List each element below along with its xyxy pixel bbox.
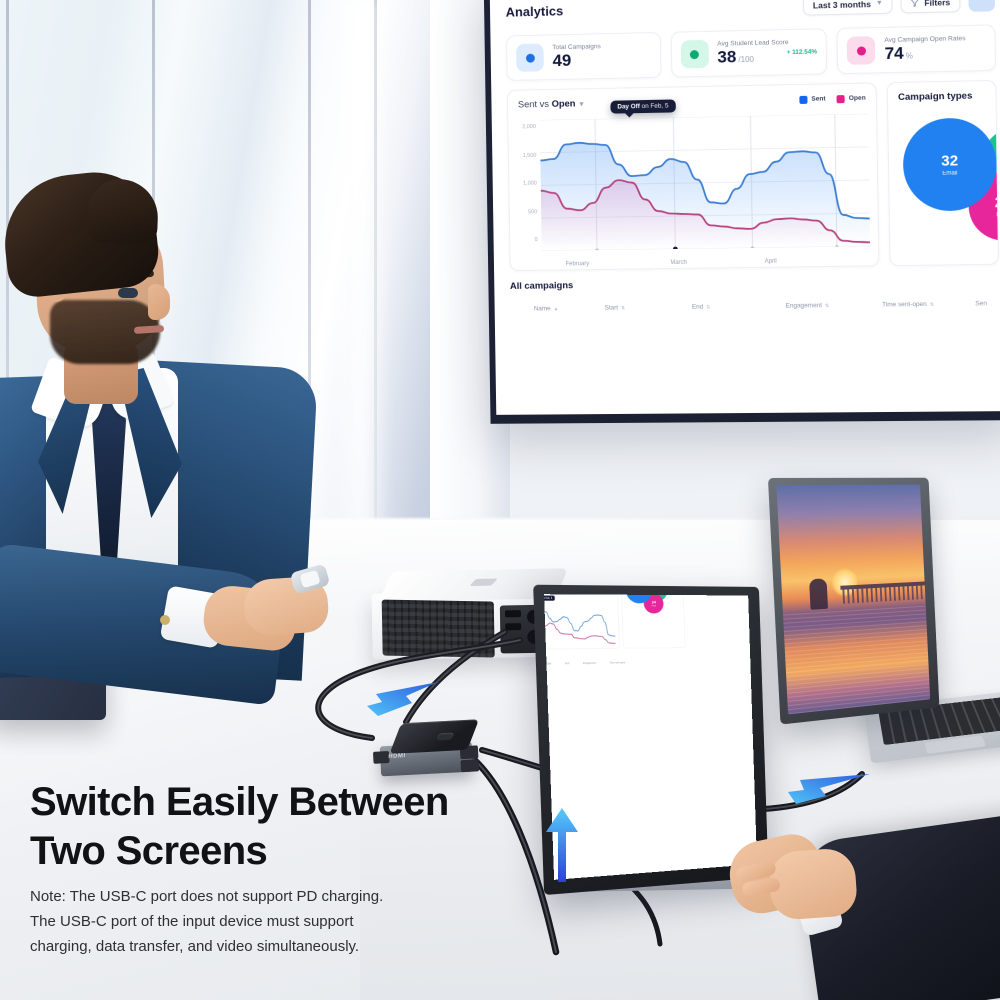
kpi-card-lead-score: Avg Student Lead Score 38 /100 + 112.54%	[670, 28, 827, 77]
chart-legend: Sent Open	[799, 94, 866, 103]
mirrored-dashboard: Avg Student Lead Score38/100 Avg Campaig…	[544, 594, 693, 749]
all-campaigns-section: All campaigns Name▲ Start⇅ End⇅ Engageme…	[510, 275, 1000, 313]
projector-vent-grill	[382, 600, 495, 658]
analytics-dashboard: Analytics Last 3 months ▼ Filters	[490, 0, 1000, 415]
legend-item-sent: Sent	[799, 95, 826, 104]
tooltip-rest: on Feb, 5	[640, 103, 669, 111]
note-line-1: Note: The USB-C port does not support PD…	[30, 884, 500, 909]
table-header-row: Name▲ Start⇅ End⇅ Engagement⇅ Time sent-…	[510, 300, 1000, 313]
cufflink	[160, 615, 170, 625]
kpi-suffix: %	[906, 52, 913, 61]
header-controls: Last 3 months ▼ Filters	[803, 0, 995, 16]
chart-tooltip: Day Off on Feb, 5	[610, 99, 675, 113]
legend-swatch	[837, 95, 845, 103]
kpi-label: Total Campaigns	[552, 43, 600, 51]
date-range-select[interactable]: Last 3 months ▼	[803, 0, 893, 15]
person-typing-on-laptop	[690, 806, 1000, 1000]
filters-label: Filters	[924, 0, 950, 7]
headline-line-2: Two Screens	[30, 827, 570, 876]
kpi-value: 38	[717, 48, 736, 67]
column-header-start[interactable]: Start⇅	[605, 304, 692, 312]
kpi-card-row: Total Campaigns 49 Avg Student Lead Scor…	[506, 24, 996, 81]
bubble-label: Email	[942, 170, 957, 176]
headline-line-1: Switch Easily Between	[30, 778, 570, 827]
column-header-engagement[interactable]: Engagement⇅	[786, 301, 883, 309]
sent-vs-open-panel: Sent vs Open ▼ Sent Open	[507, 82, 880, 271]
seated-businessman	[0, 160, 352, 660]
chevron-down-icon: ▼	[876, 0, 883, 7]
laptop-display	[776, 485, 930, 715]
usb-port	[505, 623, 521, 630]
sort-icon: ⇅	[621, 305, 625, 311]
y-tick: 1,000	[511, 181, 537, 187]
open-rate-icon	[847, 36, 876, 65]
sort-icon: ⇅	[825, 303, 829, 309]
kpi-value: 49	[552, 52, 571, 71]
hub-output-port-2	[461, 759, 480, 772]
product-marketing-image: Analytics Last 3 months ▼ Filters	[0, 0, 1000, 1000]
pier-pillars	[842, 585, 925, 603]
note-line-3: charging, data transfer, and video simul…	[30, 934, 500, 959]
hub-brand-label: HDMI	[388, 753, 406, 760]
laptop-with-sunset-wallpaper	[772, 478, 1000, 778]
y-axis-labels: 2,000 1,500 1,000 500 0	[510, 124, 537, 243]
hand-right	[768, 847, 859, 921]
nose	[148, 284, 170, 320]
arrow-to-laptop	[782, 762, 882, 814]
legend-item-open: Open	[837, 94, 866, 103]
line-chart-title-prefix: Sent vs	[518, 99, 552, 111]
column-header-end[interactable]: End⇅	[692, 303, 786, 311]
primary-action-button[interactable]	[968, 0, 995, 12]
pie-chart-title: Campaign types	[898, 90, 985, 103]
x-tick: March	[670, 260, 687, 266]
bubble-value: 24	[995, 194, 1000, 209]
sort-icon: ⇅	[706, 304, 710, 310]
x-axis-labels: February March April	[544, 257, 874, 267]
filters-button[interactable]: Filters	[901, 0, 961, 13]
y-tick: 500	[512, 209, 538, 215]
x-tick: April	[765, 259, 777, 265]
hdmi-switch-hub[interactable]: HDMI	[371, 719, 484, 783]
page-headline: Switch Easily Between Two Screens	[30, 778, 570, 876]
legend-label: Open	[849, 95, 866, 102]
sort-icon: ⇅	[930, 301, 934, 307]
kpi-delta: + 112.54%	[787, 48, 818, 56]
hub-input-port	[373, 751, 390, 764]
lead-score-icon	[680, 40, 708, 69]
silhouette-figure	[809, 578, 828, 609]
eye	[118, 288, 138, 298]
kpi-value: 74	[884, 44, 903, 63]
chart-panel-row: Sent vs Open ▼ Sent Open	[507, 80, 999, 271]
kpi-card-total-campaigns: Total Campaigns 49	[506, 32, 661, 81]
kpi-suffix: /100	[738, 56, 754, 65]
note-line-2: The USB-C port of the input device must …	[30, 909, 500, 934]
sleeve-buttons	[102, 626, 162, 636]
line-chart-title-bold: Open	[552, 98, 576, 109]
bubble-label: Form	[996, 212, 999, 218]
line-chart-plot	[540, 114, 870, 251]
tooltip-bold: Day Off	[617, 103, 640, 110]
column-header-name[interactable]: Name▲	[510, 305, 604, 313]
wall-presentation-screen: Analytics Last 3 months ▼ Filters	[484, 0, 1000, 424]
water-reflection	[783, 603, 930, 715]
y-tick: 0	[512, 237, 538, 243]
hair	[0, 166, 162, 299]
sort-asc-icon: ▲	[554, 306, 559, 312]
legend-label: Sent	[811, 95, 825, 102]
funnel-icon	[911, 0, 919, 7]
dashboard-header: Analytics Last 3 months ▼ Filters	[506, 0, 996, 23]
kpi-card-open-rates: Avg Campaign Open Rates 74 %	[837, 24, 996, 74]
legend-swatch	[799, 95, 807, 103]
kpi-label: Avg Student Lead Score	[717, 39, 777, 47]
hdmi-port	[505, 610, 521, 617]
table-title: All campaigns	[510, 275, 1000, 292]
column-header-time-sent-open[interactable]: Time sent-open⇅	[882, 300, 975, 308]
date-range-label: Last 3 months	[813, 0, 871, 10]
line-chart-header: Sent vs Open ▼ Sent Open	[518, 93, 866, 111]
y-tick: 2,000	[510, 124, 536, 130]
x-tick: February	[566, 261, 590, 267]
mirrored-line-chart	[544, 604, 616, 646]
chevron-down-icon: ▼	[578, 101, 585, 108]
line-chart-title[interactable]: Sent vs Open ▼	[518, 98, 585, 110]
campaign-icon	[516, 44, 544, 72]
bubble-value: 32	[941, 153, 958, 168]
lg-logo	[469, 579, 498, 587]
arrow-to-projector	[352, 672, 448, 728]
column-header-sen[interactable]: Sen	[975, 300, 987, 307]
campaign-types-panel: Campaign types 32 Email 28 Event 24 Form	[887, 80, 999, 266]
product-note: Note: The USB-C port does not support PD…	[30, 884, 500, 960]
y-tick: 1,500	[511, 152, 537, 158]
page-title: Analytics	[506, 3, 564, 19]
